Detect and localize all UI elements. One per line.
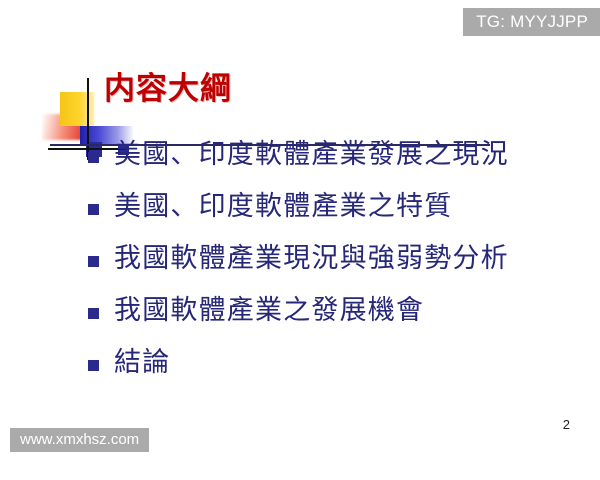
list-item-label: 我國軟體產業現況與強弱勢分析 [114,243,509,274]
list-item-label: 美國、印度軟體產業發展之現況 [114,139,509,170]
bullet-square-icon [88,308,99,319]
list-item-label: 美國、印度軟體產業之特質 [114,191,452,222]
bullet-square-icon [88,204,99,215]
list-item: 我國軟體產業現況與強弱勢分析 [88,233,588,285]
list-item: 美國、印度軟體產業之特質 [88,181,588,233]
slide-title: 内容大綱 [104,72,232,106]
list-item-label: 結論 [114,347,170,378]
list-item-label: 我國軟體產業之發展機會 [114,295,424,326]
outline-bullet-list: 美國、印度軟體產業發展之現況 美國、印度軟體產業之特質 我國軟體產業現況與強弱勢… [88,129,588,389]
page-number: 2 [563,418,570,431]
list-item: 美國、印度軟體產業發展之現況 [88,129,588,181]
list-item: 我國軟體產業之發展機會 [88,285,588,337]
bullet-square-icon [88,152,99,163]
list-item: 結論 [88,337,588,389]
presentation-slide: TG: MYYJJPP 内容大綱 美國、印度軟體產業發展之現況 美國、印度軟體產… [0,0,600,480]
site-watermark: www.xmxhsz.com [10,428,149,452]
bullet-square-icon [88,256,99,267]
decor-yellow-square [60,92,96,126]
bullet-square-icon [88,360,99,371]
telegram-watermark: TG: MYYJJPP [463,8,600,36]
